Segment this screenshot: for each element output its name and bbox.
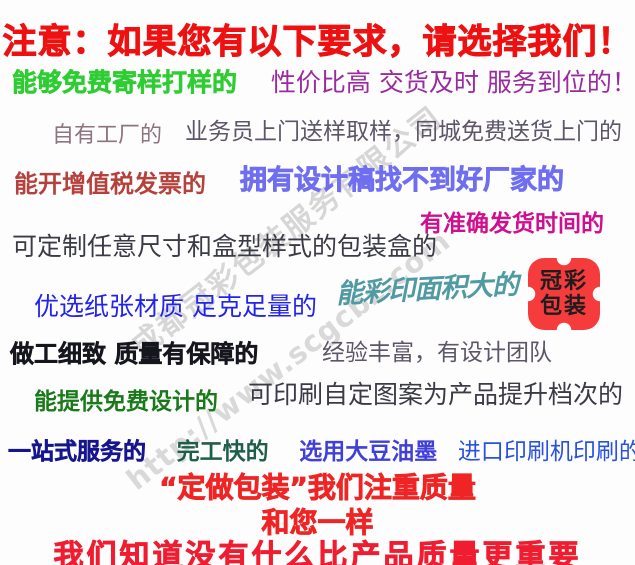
feature-free-sample: 能够免费寄样打样的 xyxy=(12,63,237,99)
stamp-line-2: 包装 xyxy=(540,295,588,318)
feature-accurate-shipping: 有准确发货时间的 xyxy=(420,204,604,238)
feature-design-draft-wrap: 拥有设计稿找不到好厂家的 xyxy=(240,158,564,197)
closing-line-1: “定做包装”我们注重质量 xyxy=(0,466,635,506)
poster-headline: 注意：如果您有以下要求，请选择我们！ xyxy=(0,14,635,63)
feature-workmanship: 做工细致 质量有保障的 xyxy=(10,334,258,369)
feature-one-stop-service: 一站式服务的 xyxy=(8,432,146,466)
feature-vat-invoice-wrap: 能开增值税发票的 xyxy=(14,164,206,199)
calligraphy-large-area-printing: 能彩印面积大的 xyxy=(335,263,519,311)
feature-paper-quality-wrap: 优选纸张材质 足克足量的 xyxy=(34,287,317,323)
feature-custom-size-wrap: 可定制任意尺寸和盒型样式的包装盒的 xyxy=(12,227,437,263)
feature-salesman-visit: 业务员上门送样取样，同城免费送货上门的 xyxy=(185,112,622,146)
promo-poster: 成都冠彩包装服务有限公司 http://www.scgcbz.com 注意：如果… xyxy=(0,0,635,565)
feature-free-design: 能提供免费设计的 xyxy=(34,382,218,416)
feature-experienced-team-wrap: 经验丰富，有设计团队 xyxy=(322,333,552,367)
feature-value-delivery-service: 性价比高 交货及时 服务到位的！ xyxy=(271,63,635,99)
feature-experienced-team: 经验丰富，有设计团队 xyxy=(322,333,552,367)
feature-custom-pattern: 可印刷自定图案为产品提升档次的 xyxy=(248,375,623,411)
feature-imported-press: 进口印刷机印刷的 xyxy=(458,432,635,466)
feature-row-9: 一站式服务的 完工快的 选用大豆油墨 进口印刷机印刷的 xyxy=(8,432,635,466)
feature-paper-quality: 优选纸张材质 足克足量的 xyxy=(34,287,317,323)
feature-free-design-wrap: 能提供免费设计的 xyxy=(34,382,218,416)
feature-custom-size: 可定制任意尺寸和盒型样式的包装盒的 xyxy=(12,227,437,263)
stamp-text: 冠彩 包装 xyxy=(534,264,594,324)
feature-soy-ink: 选用大豆油墨 xyxy=(299,432,437,466)
stamp-line-1: 冠彩 xyxy=(540,270,588,293)
company-stamp: 冠彩 包装 xyxy=(528,258,600,330)
feature-row-2: 能够免费寄样打样的 性价比高 交货及时 服务到位的！ xyxy=(12,63,635,99)
feature-design-draft: 拥有设计稿找不到好厂家的 xyxy=(240,158,564,197)
feature-accurate-shipping-wrap: 有准确发货时间的 xyxy=(420,204,604,238)
feature-own-factory-wrap: 自有工厂的 xyxy=(52,117,162,149)
feature-workmanship-wrap: 做工细致 质量有保障的 xyxy=(10,334,258,369)
feature-vat-invoice: 能开增值税发票的 xyxy=(14,164,206,199)
feature-custom-pattern-wrap: 可印刷自定图案为产品提升档次的 xyxy=(248,375,623,411)
feature-salesman-visit-wrap: 业务员上门送样取样，同城免费送货上门的 xyxy=(185,112,622,146)
closing-line-3: 我们知道没有什么比产品质量更重要 xyxy=(0,531,635,565)
feature-fast-completion: 完工快的 xyxy=(177,432,269,466)
feature-own-factory: 自有工厂的 xyxy=(52,117,162,149)
